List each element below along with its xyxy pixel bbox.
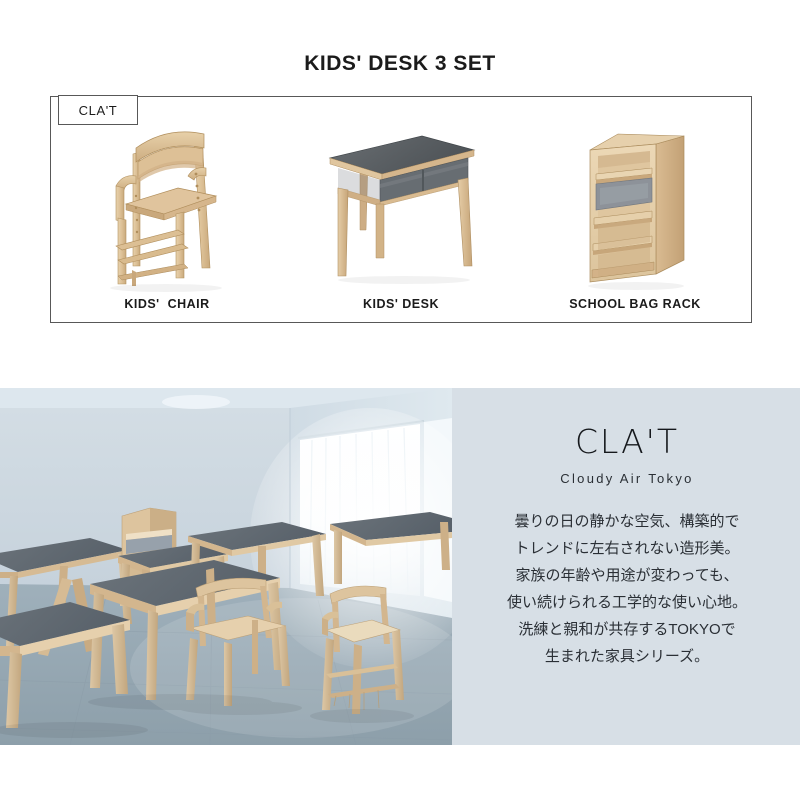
product-page: KIDS' DESK 3 SET CLA'T	[0, 0, 800, 800]
product-item-school-bag-rack[interactable]: SCHOOL BAG RACK	[518, 100, 752, 315]
brand-badge: CLA'T	[58, 95, 138, 125]
description-line: 洗練と親和が共存するTOKYOで	[480, 616, 774, 643]
description-line: 生まれた家具シリーズ。	[480, 643, 774, 670]
page-title: KIDS' DESK 3 SET	[0, 52, 800, 76]
brand-tagline: Cloudy Air Tokyo	[480, 471, 774, 486]
brand-info-panel: CLA'T Cloudy Air Tokyo 曇りの日の静かな空気、構築的で ト…	[452, 388, 800, 745]
product-label-kids-chair: KIDS' CHAIR	[124, 297, 209, 311]
description-line: トレンドに左右されない造形美。	[480, 535, 774, 562]
lifestyle-section: CLA'T Cloudy Air Tokyo 曇りの日の静かな空気、構築的で ト…	[0, 388, 800, 745]
product-item-kids-chair[interactable]: KIDS' CHAIR	[50, 100, 284, 315]
description-line: 家族の年齢や用途が変わっても、	[480, 562, 774, 589]
room-photo	[0, 388, 452, 745]
product-list: KIDS' CHAIR	[50, 100, 752, 315]
brand-description: 曇りの日の静かな空気、構築的で トレンドに左右されない造形美。 家族の年齢や用途…	[480, 508, 774, 670]
school-bag-rack-icon	[560, 118, 710, 293]
product-item-kids-desk[interactable]: KIDS' DESK	[284, 100, 518, 315]
product-label-kids-desk: KIDS' DESK	[363, 297, 439, 311]
product-label-school-bag-rack: SCHOOL BAG RACK	[569, 297, 701, 311]
kids-chair-icon	[92, 118, 242, 293]
description-line: 曇りの日の静かな空気、構築的で	[480, 508, 774, 535]
brand-logo: CLA'T	[480, 422, 774, 461]
top-section: KIDS' DESK 3 SET CLA'T	[0, 0, 800, 388]
kids-desk-icon	[314, 118, 489, 293]
description-line: 使い続けられる工学的な使い心地。	[480, 589, 774, 616]
